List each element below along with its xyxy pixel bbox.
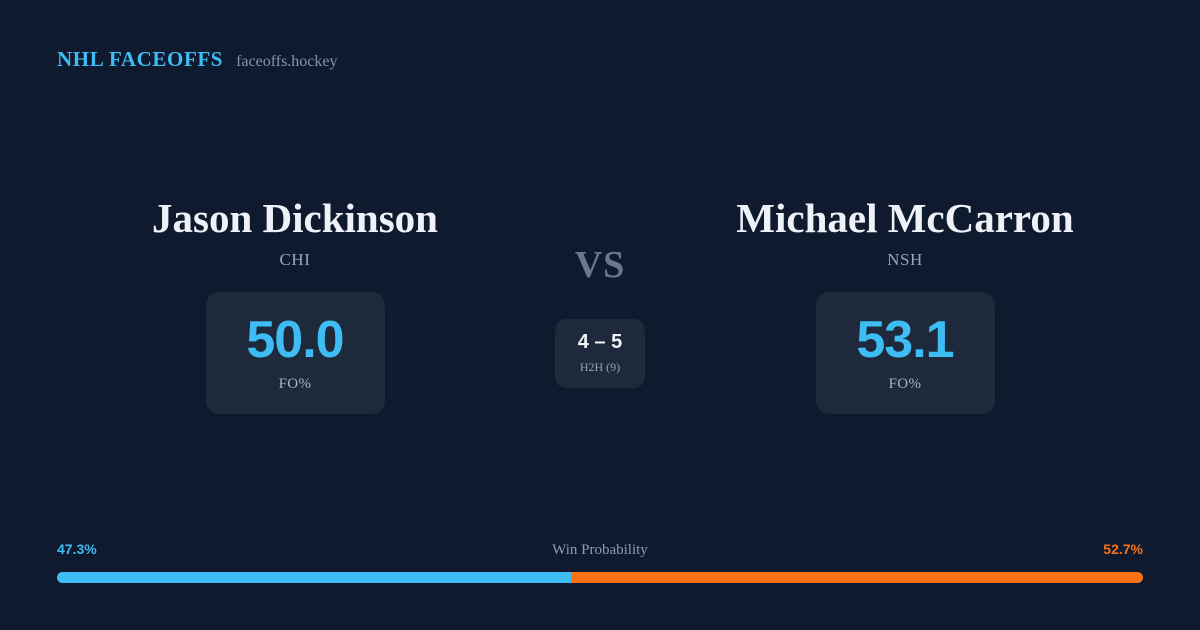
stat-card-left: 50.0 FO% [206,292,385,414]
player-card-left: Jason Dickinson CHI 50.0 FO% [56,196,534,414]
site-domain: faceoffs.hockey [236,53,337,71]
faceoff-percent-right: 53.1 [856,314,953,366]
win-probability-labels: 47.3% Win Probability 52.7% [57,541,1143,563]
stat-card-right: 53.1 FO% [816,292,995,414]
stat-label-right: FO% [889,376,922,393]
player-name-left: Jason Dickinson [152,196,438,240]
stat-label-left: FO% [279,376,312,393]
faceoff-percent-left: 50.0 [246,314,343,366]
matchup-section: Jason Dickinson CHI 50.0 FO% VS 4 – 5 H2… [0,196,1200,414]
vs-label: VS [575,246,626,284]
team-abbr-left: CHI [279,250,310,270]
win-probability-section: 47.3% Win Probability 52.7% [57,541,1143,583]
win-probability-right-value: 52.7% [1103,541,1143,557]
player-name-right: Michael McCarron [736,196,1073,240]
win-probability-bar-right-segment [571,572,1143,583]
head-to-head-card: 4 – 5 H2H (9) [555,319,645,388]
win-probability-bar-left-segment [57,572,571,583]
player-card-right: Michael McCarron NSH 53.1 FO% [666,196,1144,414]
site-header: NHL FACEOFFS faceoffs.hockey [57,47,338,72]
brand-title: NHL FACEOFFS [57,47,223,72]
matchup-center: VS 4 – 5 H2H (9) [534,196,666,388]
head-to-head-score: 4 – 5 [578,332,622,352]
team-abbr-right: NSH [887,250,923,270]
win-probability-bar [57,572,1143,583]
head-to-head-label: H2H (9) [580,360,620,375]
win-probability-title: Win Probability [57,542,1143,559]
